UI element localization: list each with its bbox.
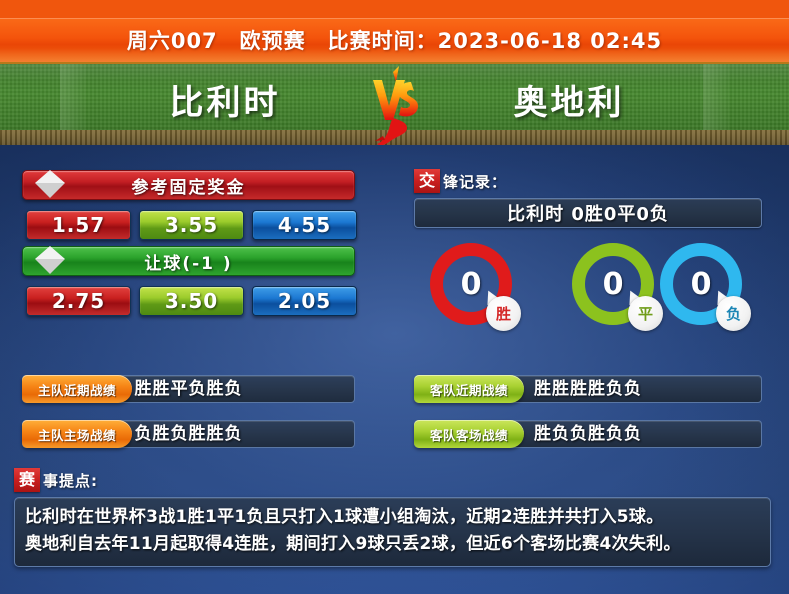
h2h-label-text: 锋记录： bbox=[443, 171, 507, 192]
vs-icon bbox=[363, 62, 427, 148]
odd-fixed-lose[interactable]: 4.55 bbox=[252, 210, 357, 240]
diamond-icon bbox=[35, 246, 65, 276]
h2h-ring-lose: 0 负 bbox=[660, 243, 742, 325]
h2h-section-label: 交 锋记录： bbox=[414, 169, 507, 193]
diamond-icon bbox=[35, 170, 65, 200]
match-header-text: 周六007 欧预赛 比赛时间：2023-06-18 02:45 bbox=[127, 25, 662, 55]
fixed-odds-title: 参考固定奖金 bbox=[22, 170, 355, 200]
h2h-summary-bar: 比利时 0胜0平0负 bbox=[414, 198, 762, 228]
ring-badge: 负 bbox=[716, 296, 751, 331]
away-recent-form-row: 胜胜胜胜负负 客队近期战绩 bbox=[414, 375, 762, 403]
match-note-line-2: 奥地利自去年11月起取得4连胜，期间打入9球只丢2球，但近6个客场比赛4次失利。 bbox=[25, 531, 760, 558]
notes-section-label: 赛 事提点: bbox=[14, 468, 98, 492]
content-body: 参考固定奖金 1.57 3.55 4.55 让球(-1 ) 2.75 3.50 … bbox=[0, 145, 789, 594]
h2h-label-block: 交 bbox=[414, 169, 440, 193]
match-header: 周六007 欧预赛 比赛时间：2023-06-18 02:45 bbox=[0, 18, 789, 62]
home-recent-form-label: 主队近期战绩 bbox=[22, 375, 132, 403]
top-strip bbox=[0, 0, 789, 18]
notes-label-text: 事提点: bbox=[43, 470, 98, 491]
ring-badge: 平 bbox=[628, 296, 663, 331]
notes-label-block: 赛 bbox=[14, 468, 40, 492]
odd-fixed-win[interactable]: 1.57 bbox=[26, 210, 131, 240]
h2h-ring-draw: 0 平 bbox=[572, 243, 654, 325]
ring-badge: 胜 bbox=[486, 296, 521, 331]
handicap-title: 让球(-1 ) bbox=[22, 246, 355, 276]
home-recent-form-row: 胜胜平负胜负 主队近期战绩 bbox=[22, 375, 355, 403]
handicap-title-text: 让球(-1 ) bbox=[144, 249, 232, 274]
home-venue-form-row: 负胜负胜胜负 主队主场战绩 bbox=[22, 420, 355, 448]
away-team-name: 奥地利 bbox=[454, 76, 684, 130]
home-team-name: 比利时 bbox=[110, 76, 340, 130]
match-note-line-1: 比利时在世界杯3战1胜1平1负且只打入1球遭小组淘汰，近期2连胜并共打入5球。 bbox=[25, 504, 760, 531]
away-recent-form-label: 客队近期战绩 bbox=[414, 375, 524, 403]
home-venue-form-label: 主队主场战绩 bbox=[22, 420, 132, 448]
odd-handicap-lose[interactable]: 2.05 bbox=[252, 286, 357, 316]
odd-handicap-draw[interactable]: 3.50 bbox=[139, 286, 244, 316]
match-notes-box: 比利时在世界杯3战1胜1平1负且只打入1球遭小组淘汰，近期2连胜并共打入5球。 … bbox=[14, 497, 771, 567]
h2h-ring-win: 0 胜 bbox=[430, 243, 512, 325]
fixed-odds-title-text: 参考固定奖金 bbox=[132, 173, 246, 198]
odd-handicap-win[interactable]: 2.75 bbox=[26, 286, 131, 316]
match-preview-card: 周六007 欧预赛 比赛时间：2023-06-18 02:45 比利时 奥地利 bbox=[0, 0, 789, 594]
odd-fixed-draw[interactable]: 3.55 bbox=[139, 210, 244, 240]
away-venue-form-label: 客队客场战绩 bbox=[414, 420, 524, 448]
away-venue-form-row: 胜负负胜负负 客队客场战绩 bbox=[414, 420, 762, 448]
